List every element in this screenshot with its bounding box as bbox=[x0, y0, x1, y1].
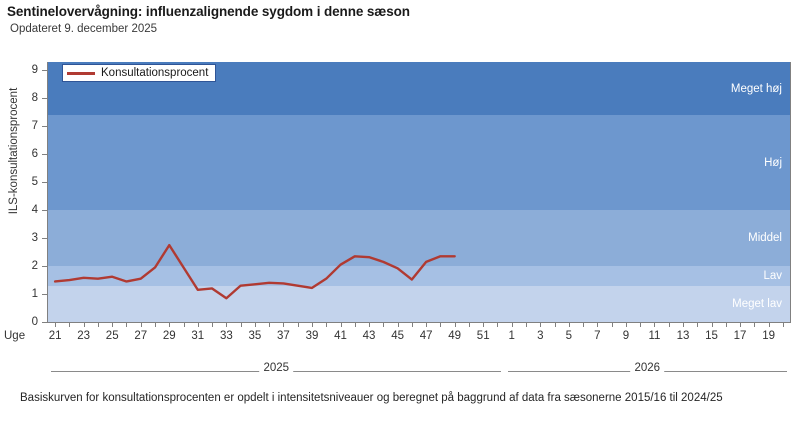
x-tick-0 bbox=[55, 322, 56, 327]
x-tick-label-23: 15 bbox=[700, 330, 724, 342]
y-tick-5 bbox=[42, 182, 47, 183]
x-tick-26 bbox=[426, 322, 427, 327]
x-tick-42 bbox=[654, 322, 655, 327]
chart-footnote: Basiskurven for konsultationsprocenten e… bbox=[20, 390, 780, 407]
x-tick-label-0: 21 bbox=[43, 330, 67, 342]
x-tick-label-1: 23 bbox=[72, 330, 96, 342]
x-tick-48 bbox=[740, 322, 741, 327]
x-tick-11 bbox=[212, 322, 213, 327]
y-tick-9 bbox=[42, 70, 47, 71]
x-tick-33 bbox=[526, 322, 527, 327]
x-tick-1 bbox=[69, 322, 70, 327]
y-tick-8 bbox=[42, 98, 47, 99]
legend-line-swatch bbox=[67, 72, 95, 75]
y-tick-label-1: 1 bbox=[0, 288, 38, 300]
x-tick-23 bbox=[383, 322, 384, 327]
x-tick-31 bbox=[497, 322, 498, 327]
x-tick-8 bbox=[169, 322, 170, 327]
x-tick-2 bbox=[84, 322, 85, 327]
x-tick-25 bbox=[412, 322, 413, 327]
x-tick-44 bbox=[683, 322, 684, 327]
x-tick-40 bbox=[626, 322, 627, 327]
x-tick-29 bbox=[469, 322, 470, 327]
x-tick-7 bbox=[155, 322, 156, 327]
x-tick-label-21: 11 bbox=[642, 330, 666, 342]
x-tick-label-4: 29 bbox=[157, 330, 181, 342]
x-tick-47 bbox=[726, 322, 727, 327]
x-axis-prefix-label: Uge bbox=[4, 330, 25, 342]
x-tick-43 bbox=[669, 322, 670, 327]
plot-area: Meget højHøjMiddelLavMeget lav bbox=[48, 62, 791, 322]
y-tick-2 bbox=[42, 266, 47, 267]
x-tick-32 bbox=[512, 322, 513, 327]
x-tick-label-17: 3 bbox=[528, 330, 552, 342]
x-tick-label-10: 41 bbox=[329, 330, 353, 342]
x-tick-50 bbox=[769, 322, 770, 327]
x-tick-15 bbox=[269, 322, 270, 327]
x-tick-4 bbox=[112, 322, 113, 327]
y-tick-label-0: 0 bbox=[0, 316, 38, 328]
x-tick-label-18: 5 bbox=[557, 330, 581, 342]
x-tick-39 bbox=[612, 322, 613, 327]
legend-label: Konsultationsprocent bbox=[101, 67, 208, 79]
x-tick-12 bbox=[226, 322, 227, 327]
chart-legend[interactable]: Konsultationsprocent bbox=[62, 64, 216, 82]
x-tick-16 bbox=[283, 322, 284, 327]
x-tick-6 bbox=[141, 322, 142, 327]
x-tick-label-24: 17 bbox=[728, 330, 752, 342]
y-tick-label-2: 2 bbox=[0, 260, 38, 272]
x-tick-label-9: 39 bbox=[300, 330, 324, 342]
x-tick-18 bbox=[312, 322, 313, 327]
page-subtitle: Opdateret 9. december 2025 bbox=[10, 23, 157, 35]
x-tick-19 bbox=[326, 322, 327, 327]
x-tick-37 bbox=[583, 322, 584, 327]
x-tick-5 bbox=[126, 322, 127, 327]
x-tick-49 bbox=[754, 322, 755, 327]
x-tick-label-14: 49 bbox=[443, 330, 467, 342]
x-tick-45 bbox=[697, 322, 698, 327]
x-tick-label-8: 37 bbox=[271, 330, 295, 342]
x-tick-14 bbox=[255, 322, 256, 327]
y-tick-3 bbox=[42, 238, 47, 239]
x-tick-label-15: 51 bbox=[471, 330, 495, 342]
x-tick-24 bbox=[398, 322, 399, 327]
y-tick-7 bbox=[42, 126, 47, 127]
series-line bbox=[55, 245, 455, 298]
y-tick-1 bbox=[42, 294, 47, 295]
x-tick-label-13: 47 bbox=[414, 330, 438, 342]
x-tick-22 bbox=[369, 322, 370, 327]
x-tick-46 bbox=[712, 322, 713, 327]
y-tick-0 bbox=[42, 322, 47, 323]
x-tick-label-2: 25 bbox=[100, 330, 124, 342]
chart-container: Sentinelovervågning: influenzalignende s… bbox=[0, 0, 800, 428]
x-tick-10 bbox=[198, 322, 199, 327]
x-tick-label-19: 7 bbox=[585, 330, 609, 342]
x-tick-label-11: 43 bbox=[357, 330, 381, 342]
x-tick-label-12: 45 bbox=[386, 330, 410, 342]
x-tick-35 bbox=[555, 322, 556, 327]
year-group-label-0: 2025 bbox=[260, 362, 294, 374]
x-tick-28 bbox=[455, 322, 456, 327]
x-axis-line bbox=[47, 322, 791, 323]
page-title: Sentinelovervågning: influenzalignende s… bbox=[7, 4, 410, 19]
x-tick-27 bbox=[440, 322, 441, 327]
x-tick-label-20: 9 bbox=[614, 330, 638, 342]
x-tick-30 bbox=[483, 322, 484, 327]
x-tick-label-3: 27 bbox=[129, 330, 153, 342]
x-tick-label-22: 13 bbox=[671, 330, 695, 342]
x-tick-label-5: 31 bbox=[186, 330, 210, 342]
x-tick-label-7: 35 bbox=[243, 330, 267, 342]
y-tick-6 bbox=[42, 154, 47, 155]
x-tick-36 bbox=[569, 322, 570, 327]
x-tick-41 bbox=[640, 322, 641, 327]
x-tick-17 bbox=[298, 322, 299, 327]
x-tick-51 bbox=[783, 322, 784, 327]
year-group-label-1: 2026 bbox=[631, 362, 665, 374]
x-tick-label-16: 1 bbox=[500, 330, 524, 342]
x-tick-3 bbox=[98, 322, 99, 327]
x-tick-38 bbox=[597, 322, 598, 327]
series-konsultationsprocent bbox=[48, 62, 790, 322]
y-axis-title: ILS-konsultationsprocent bbox=[8, 51, 20, 251]
x-tick-9 bbox=[184, 322, 185, 327]
x-tick-34 bbox=[540, 322, 541, 327]
y-tick-4 bbox=[42, 210, 47, 211]
x-tick-label-25: 19 bbox=[757, 330, 781, 342]
x-tick-21 bbox=[355, 322, 356, 327]
x-tick-13 bbox=[241, 322, 242, 327]
y-axis-line bbox=[47, 62, 48, 323]
x-tick-20 bbox=[341, 322, 342, 327]
x-tick-label-6: 33 bbox=[214, 330, 238, 342]
